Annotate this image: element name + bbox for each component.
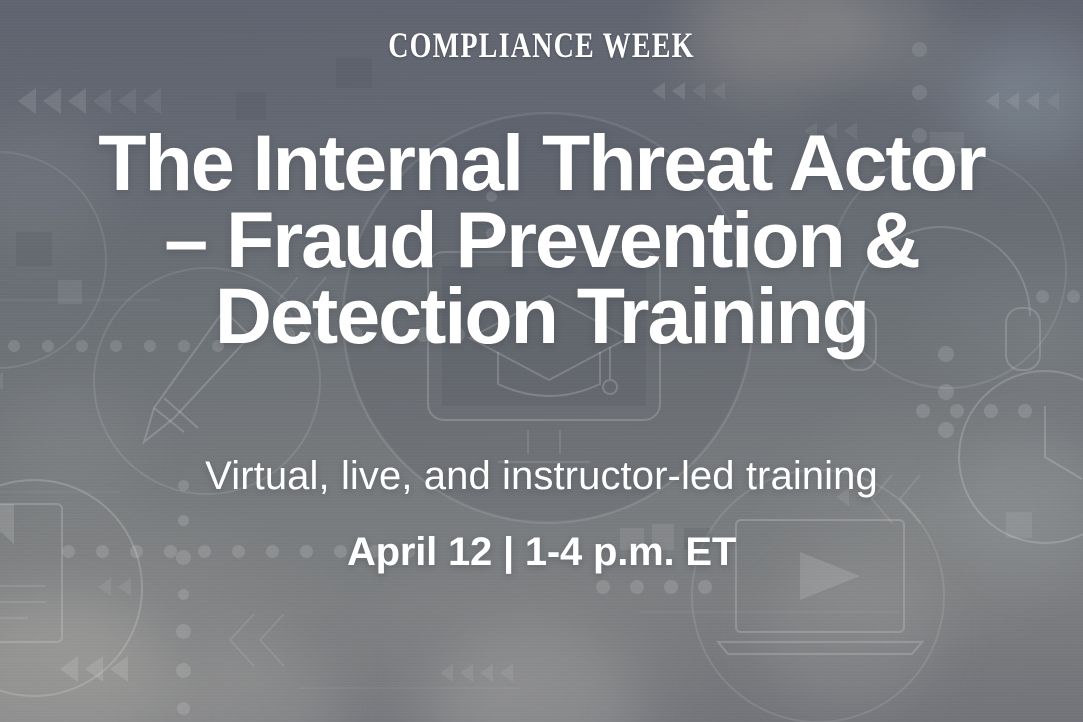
subtitle: Virtual, live, and instructor-led traini… [205, 454, 878, 498]
headline-line-3: Detection Training [14, 278, 1069, 355]
brand-logo: COMPLIANCE WEEK [388, 27, 694, 63]
page-title: The Internal Threat Actor – Fraud Preven… [0, 125, 1083, 355]
banner-content: COMPLIANCE WEEK The Internal Threat Acto… [0, 0, 1083, 722]
promo-banner: COMPLIANCE WEEK The Internal Threat Acto… [0, 0, 1083, 722]
headline-line-1: The Internal Threat Actor [14, 125, 1069, 202]
headline-line-2: – Fraud Prevention & [14, 202, 1069, 279]
date-time: April 12 | 1-4 p.m. ET [347, 530, 736, 574]
